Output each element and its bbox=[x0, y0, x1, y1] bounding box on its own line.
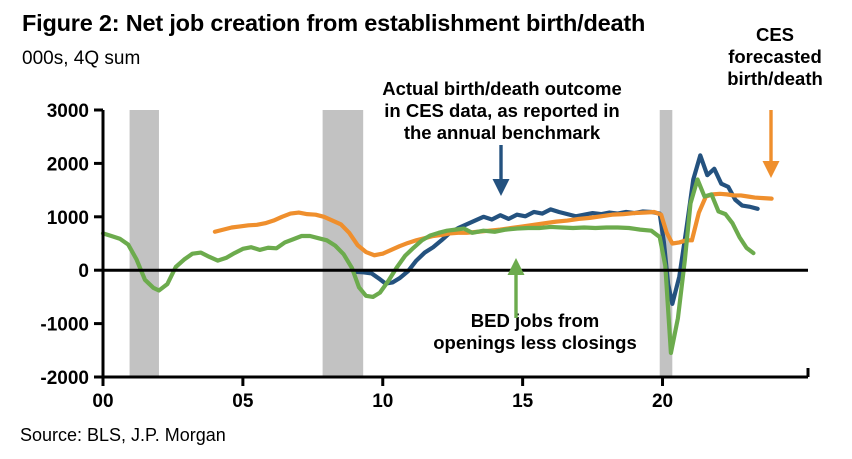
x-tick-label: 00 bbox=[92, 391, 113, 412]
x-tick-label: 15 bbox=[512, 391, 534, 412]
arrow-ces-forecast bbox=[763, 110, 780, 178]
x-tick-label: 05 bbox=[232, 391, 254, 412]
arrow-bed-jobs bbox=[508, 258, 525, 318]
y-tick-label: -2000 bbox=[40, 368, 89, 389]
chart-figure: Figure 2: Net job creation from establis… bbox=[0, 0, 852, 459]
figure-source: Source: BLS, J.P. Morgan bbox=[20, 425, 226, 446]
chart-axes bbox=[94, 110, 808, 386]
x-tick-label: 20 bbox=[652, 391, 673, 412]
y-tick-label: 2000 bbox=[47, 154, 89, 175]
y-tick-label: 3000 bbox=[47, 101, 89, 122]
y-tick-label: 1000 bbox=[47, 208, 89, 229]
x-tick-label: 10 bbox=[372, 391, 393, 412]
y-tick-label: 0 bbox=[78, 261, 89, 282]
arrow-actual-birth-death bbox=[493, 145, 510, 196]
y-tick-label: -1000 bbox=[40, 315, 89, 336]
series-line-2 bbox=[103, 179, 753, 353]
chart-canvas: 3000200010000-1000-20000005101520 bbox=[0, 0, 852, 459]
recession-band bbox=[130, 110, 159, 377]
